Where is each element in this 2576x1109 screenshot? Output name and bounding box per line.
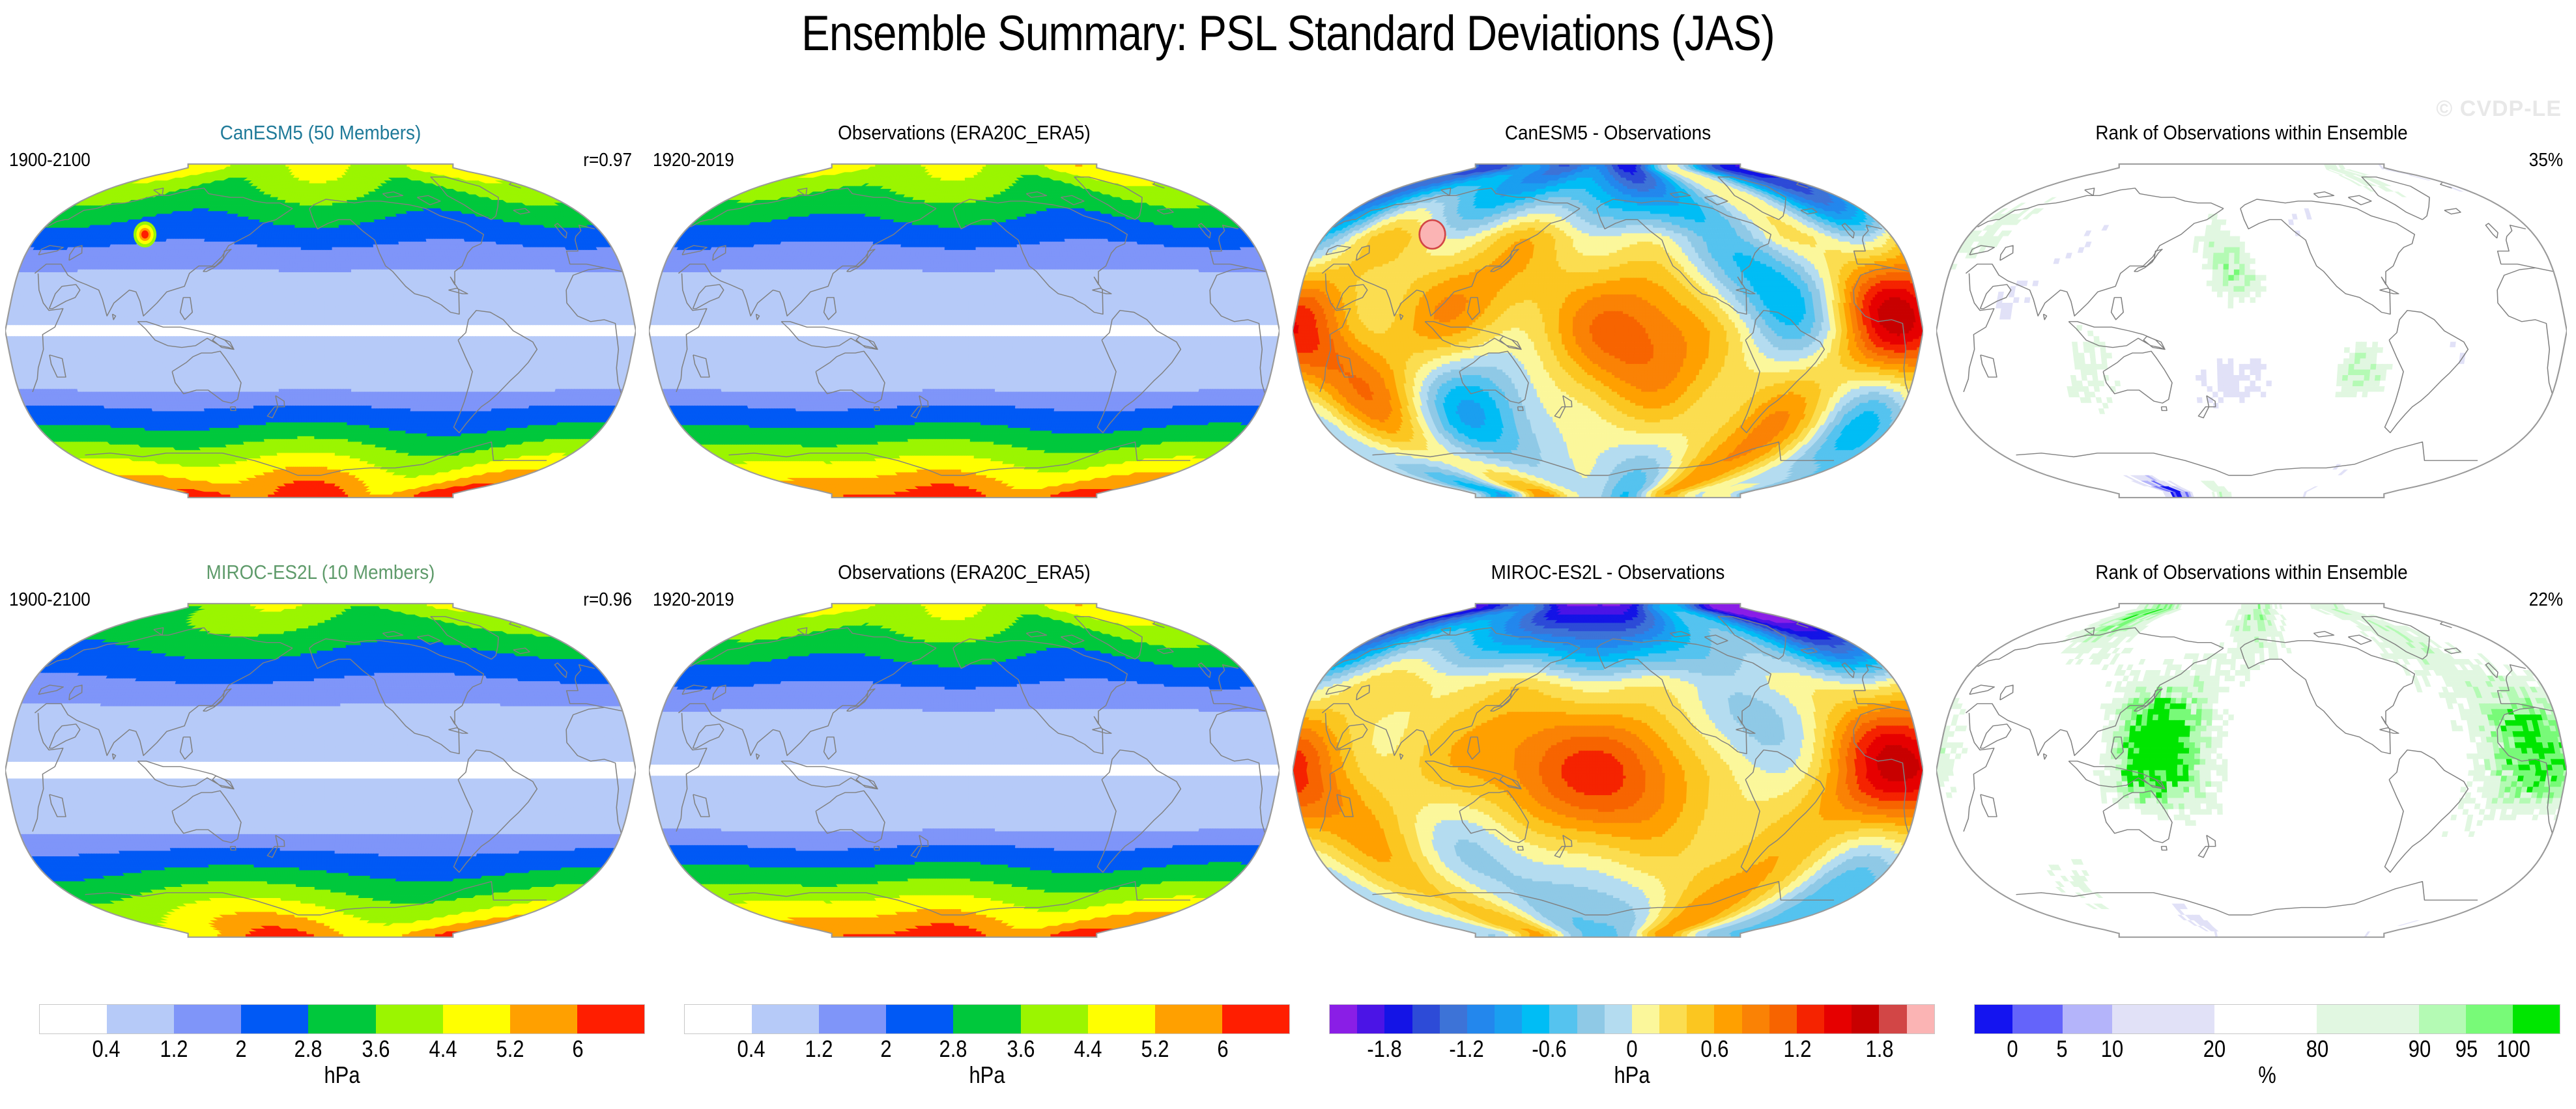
- colorbar-cell: [1659, 1005, 1687, 1033]
- colorbar-tick-label: 0.6: [1700, 1035, 1728, 1063]
- colorbar-tick-label: 0: [2007, 1035, 2018, 1063]
- colorbar-cell: [2317, 1005, 2419, 1033]
- colorbar-cell: [1522, 1005, 1549, 1033]
- colorbar-tick-label: -1.2: [1450, 1035, 1484, 1063]
- map-panel-stddev_obs: Observations (ERA20C_ERA5)1920-2019: [649, 561, 1280, 951]
- colorbar-cell: [2419, 1005, 2466, 1033]
- colorbar-tick-label: 0.4: [737, 1035, 766, 1063]
- colorbar-cell: [1384, 1005, 1412, 1033]
- colorbar-cell: [1797, 1005, 1824, 1033]
- colorbar-tick-label: 1.2: [160, 1035, 188, 1063]
- colorbar-tick-label: 10: [2100, 1035, 2123, 1063]
- colorbar-tick-label: 20: [2203, 1035, 2225, 1063]
- figure-root: Ensemble Summary: PSL Standard Deviation…: [0, 0, 2576, 1109]
- colorbar-tick-label: 1.2: [805, 1035, 833, 1063]
- colorbar-cell: [1742, 1005, 1769, 1033]
- map-canvas: [5, 161, 636, 500]
- map-panel-stddev2: MIROC-ES2L (10 Members)1900-2100r=0.96: [5, 561, 636, 951]
- colorbar-cell: [40, 1005, 107, 1033]
- colorbar-unit-label: hPa: [1371, 1061, 1893, 1089]
- panel-title: Observations (ERA20C_ERA5): [680, 121, 1248, 145]
- colorbar-tick-label: 2.8: [294, 1035, 322, 1063]
- colorbar-cell: [2063, 1005, 2112, 1033]
- colorbar-cell: [1088, 1005, 1155, 1033]
- colorbar-cell: [1412, 1005, 1440, 1033]
- colorbar-cell: [107, 1005, 174, 1033]
- colorbar-gradient: [684, 1004, 1290, 1034]
- panel-title: Observations (ERA20C_ERA5): [680, 561, 1248, 584]
- colorbar-cell: [577, 1005, 644, 1033]
- colorbar-tick-label: 5.2: [496, 1035, 524, 1063]
- colorbar-stddev: 0.41.222.83.64.45.26hPa: [684, 1004, 1290, 1089]
- colorbar-rank: 051020809095100%: [1974, 1004, 2560, 1089]
- colorbar-cell: [1852, 1005, 1879, 1033]
- colorbar-ticks: 051020809095100: [1974, 1034, 2560, 1064]
- colorbar-cell: [376, 1005, 443, 1033]
- colorbar-tick-label: -1.8: [1367, 1035, 1401, 1063]
- colorbar-cell: [1605, 1005, 1632, 1033]
- colorbar-unit-label: hPa: [726, 1061, 1248, 1089]
- colorbar-tick-label: 2: [880, 1035, 891, 1063]
- colorbar-cell: [2112, 1005, 2214, 1033]
- colorbar-tick-label: 2.8: [939, 1035, 967, 1063]
- colorbar-tick-label: 4.4: [1074, 1035, 1102, 1063]
- panel-title: MIROC-ES2L (10 Members): [36, 561, 604, 584]
- colorbar-cell: [819, 1005, 886, 1033]
- map-panel-rank: Rank of Observations within Ensemble35%: [1936, 121, 2567, 512]
- colorbar-cell: [1155, 1005, 1222, 1033]
- panel-title: Rank of Observations within Ensemble: [1968, 561, 2535, 584]
- colorbar-cell: [953, 1005, 1020, 1033]
- map-canvas: [1293, 601, 1923, 940]
- panel-title: MIROC-ES2L - Observations: [1324, 561, 1891, 584]
- colorbar-cell: [510, 1005, 577, 1033]
- colorbar-unit-label: hPa: [81, 1061, 603, 1089]
- colorbar-cell: [1632, 1005, 1659, 1033]
- colorbar-tick-label: 5: [2056, 1035, 2067, 1063]
- map-canvas: [1293, 161, 1923, 500]
- map-canvas: [649, 161, 1280, 500]
- colorbar-gradient: [1329, 1004, 1935, 1034]
- colorbar-tick-label: 6: [1217, 1035, 1228, 1063]
- page-title: Ensemble Summary: PSL Standard Deviation…: [180, 5, 2396, 62]
- colorbar-cell: [1975, 1005, 2012, 1033]
- colorbar-gradient: [1974, 1004, 2560, 1034]
- colorbar-cell: [1021, 1005, 1088, 1033]
- colorbar-cell: [752, 1005, 819, 1033]
- colorbar-cell: [886, 1005, 953, 1033]
- colorbar-tick-label: 3.6: [362, 1035, 390, 1063]
- map-canvas: [5, 601, 636, 940]
- panel-title: CanESM5 - Observations: [1324, 121, 1891, 145]
- colorbar-tick-label: 1.8: [1866, 1035, 1894, 1063]
- colorbar-cell: [443, 1005, 510, 1033]
- colorbar-cell: [1357, 1005, 1384, 1033]
- colorbar-cell: [308, 1005, 375, 1033]
- colorbar-tick-label: 4.4: [429, 1035, 457, 1063]
- colorbar-tick-label: 0: [1626, 1035, 1637, 1063]
- colorbar-tick-label: 100: [2497, 1035, 2530, 1063]
- colorbar-tick-label: 3.6: [1007, 1035, 1035, 1063]
- colorbar-cell: [1222, 1005, 1289, 1033]
- map-panel-stddev_obs: Observations (ERA20C_ERA5)1920-2019: [649, 121, 1280, 512]
- colorbar-cell: [1879, 1005, 1906, 1033]
- colorbar-tick-label: 95: [2455, 1035, 2478, 1063]
- colorbar-ticks: 0.41.222.83.64.45.26: [39, 1034, 645, 1064]
- colorbar-tick-label: 80: [2306, 1035, 2328, 1063]
- colorbar-cell: [1824, 1005, 1852, 1033]
- colorbar-cell: [1577, 1005, 1605, 1033]
- colorbar-cell: [1769, 1005, 1797, 1033]
- colorbar-unit-label: %: [2015, 1061, 2519, 1089]
- colorbar-cell: [2214, 1005, 2317, 1033]
- colorbar-cell: [2513, 1005, 2560, 1033]
- map-panel-diff: CanESM5 - Observations: [1293, 121, 1923, 512]
- panel-title: Rank of Observations within Ensemble: [1968, 121, 2535, 145]
- colorbar-cell: [1495, 1005, 1522, 1033]
- colorbar-tick-label: 1.2: [1783, 1035, 1811, 1063]
- colorbar-tick-label: -0.6: [1532, 1035, 1566, 1063]
- colorbar-cell: [2466, 1005, 2513, 1033]
- colorbar-tick-label: 6: [572, 1035, 583, 1063]
- map-canvas: [1936, 161, 2567, 500]
- map-panel-stddev: CanESM5 (50 Members)1900-2100r=0.97: [5, 121, 636, 512]
- map-canvas: [649, 601, 1280, 940]
- colorbar-tick-label: 5.2: [1141, 1035, 1169, 1063]
- colorbar-ticks: 0.41.222.83.64.45.26: [684, 1034, 1290, 1064]
- colorbar-tick-label: 90: [2409, 1035, 2431, 1063]
- colorbar-cell: [1330, 1005, 1357, 1033]
- colorbar-cell: [1687, 1005, 1714, 1033]
- colorbar-cell: [241, 1005, 308, 1033]
- panel-title: CanESM5 (50 Members): [36, 121, 604, 145]
- map-canvas: [1936, 601, 2567, 940]
- colorbar-tick-label: 2: [235, 1035, 246, 1063]
- colorbar-cell: [1907, 1005, 1934, 1033]
- map-panel-diff2: MIROC-ES2L - Observations: [1293, 561, 1923, 951]
- colorbar-cell: [1714, 1005, 1741, 1033]
- colorbar-cell: [2012, 1005, 2062, 1033]
- colorbar-difference: -1.8-1.2-0.600.61.21.8hPa: [1329, 1004, 1935, 1089]
- colorbar-cell: [1549, 1005, 1577, 1033]
- colorbar-cell: [1467, 1005, 1495, 1033]
- colorbar-cell: [174, 1005, 241, 1033]
- colorbar-ticks: -1.8-1.2-0.600.61.21.8: [1329, 1034, 1935, 1064]
- cvdp-watermark: © CVDP-LE: [2436, 96, 2562, 122]
- map-panel-rank2: Rank of Observations within Ensemble22%: [1936, 561, 2567, 951]
- colorbar-cell: [685, 1005, 752, 1033]
- colorbar-gradient: [39, 1004, 645, 1034]
- colorbar-tick-label: 0.4: [93, 1035, 121, 1063]
- colorbar-cell: [1440, 1005, 1467, 1033]
- colorbar-stddev: 0.41.222.83.64.45.26hPa: [39, 1004, 645, 1089]
